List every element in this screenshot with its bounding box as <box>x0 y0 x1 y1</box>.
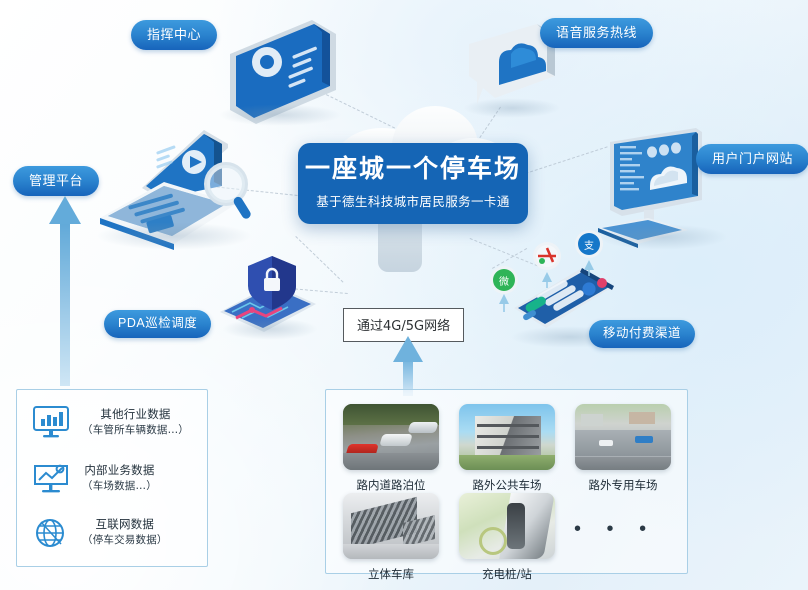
on-street-parking-photo <box>343 404 439 470</box>
data-source-title: 内部业务数据 <box>82 463 157 479</box>
infographic-canvas: 指挥中心 语音服务热线 <box>0 0 808 590</box>
pda-patrol-device <box>216 252 326 344</box>
data-sources-panel: 其他行业数据 （车管所车辆数据…） 内部业务数据 （车场数据…） <box>16 389 208 567</box>
svg-text:支: 支 <box>584 240 594 252</box>
command-center-device <box>212 16 342 126</box>
data-source-row[interactable]: 互联网数据 （停车交易数据） <box>31 514 199 550</box>
scene-tile[interactable]: 路外公共车场 <box>459 404 555 493</box>
arrow-data-to-platform <box>48 196 82 391</box>
data-source-row[interactable]: 其他行业数据 （车管所车辆数据…） <box>31 404 199 440</box>
globe-network-icon <box>31 514 71 550</box>
bar-chart-monitor-icon <box>31 404 71 440</box>
badge-mobile-payment[interactable]: 移动付费渠道 <box>589 320 695 348</box>
more-scenes-indicator: • • • <box>574 518 656 541</box>
management-laptop-device <box>86 126 261 256</box>
scene-label: 充电桩/站 <box>459 566 555 582</box>
data-source-title: 其他行业数据 <box>82 407 189 423</box>
scene-tile[interactable]: 路内道路泊位 <box>343 404 439 493</box>
scene-tile[interactable]: 充电桩/站 <box>459 493 555 582</box>
line-chart-monitor-icon <box>31 460 71 496</box>
svg-text:微: 微 <box>499 275 509 288</box>
data-source-note: （车管所车辆数据…） <box>82 423 189 437</box>
data-source-title: 互联网数据 <box>82 517 168 533</box>
parking-scenes-panel: 路内道路泊位 路外公共车场 路外专用车场 <box>325 389 688 574</box>
badge-voice-hotline[interactable]: 语音服务热线 <box>540 18 653 48</box>
public-offstreet-lot-photo <box>459 404 555 470</box>
data-source-note: （停车交易数据） <box>82 533 168 547</box>
badge-management-platform[interactable]: 管理平台 <box>13 166 99 196</box>
scene-label: 路外公共车场 <box>459 477 555 493</box>
page-subtitle: 基于德生科技城市居民服务一卡通 <box>304 191 522 210</box>
scene-tile[interactable]: 路外专用车场 <box>575 404 671 493</box>
scene-label: 路内道路泊位 <box>343 477 439 493</box>
badge-portal-site[interactable]: 用户门户网站 <box>696 144 808 174</box>
data-source-note: （车场数据…） <box>82 479 157 493</box>
ev-charging-station-photo <box>459 493 555 559</box>
scene-tile[interactable]: 立体车库 <box>343 493 439 582</box>
multilevel-garage-photo <box>343 493 439 559</box>
scene-label: 立体车库 <box>343 566 439 582</box>
scene-label: 路外专用车场 <box>575 477 671 493</box>
badge-pda-patrol[interactable]: PDA巡检调度 <box>104 310 211 338</box>
page-title: 一座城一个停车场 <box>304 155 522 183</box>
badge-command-center[interactable]: 指挥中心 <box>131 20 217 50</box>
data-source-row[interactable]: 内部业务数据 （车场数据…） <box>31 460 199 496</box>
centre-headline-card: 一座城一个停车场 基于德生科技城市居民服务一卡通 <box>298 143 528 224</box>
private-offstreet-lot-photo <box>575 404 671 470</box>
